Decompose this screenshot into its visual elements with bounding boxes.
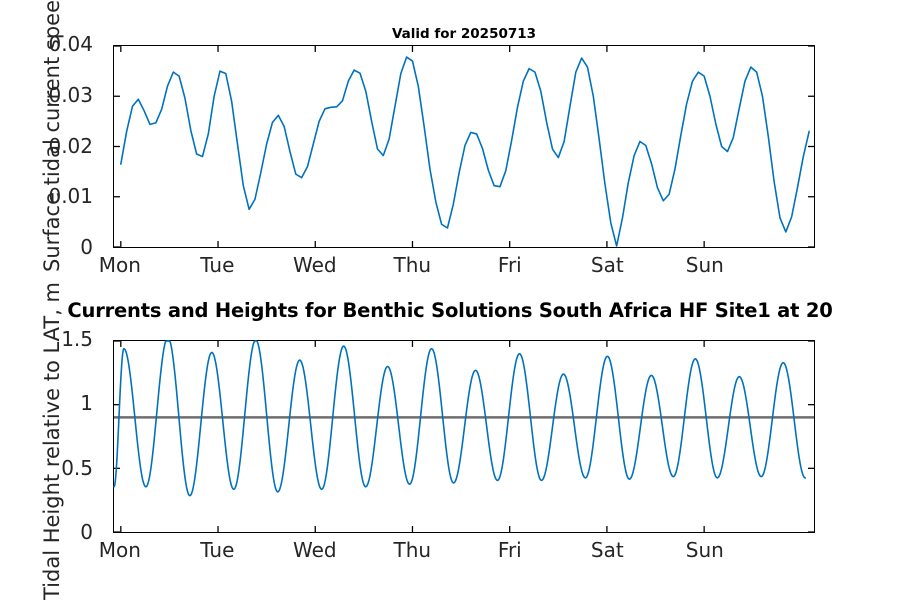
x-tick-label: Wed [293,540,337,560]
x-tick-label: Sat [591,540,624,560]
data-series-line [121,57,809,246]
x-tick-label: Sat [591,255,624,275]
x-tick-label: Sun [686,540,724,560]
x-tick-label: Mon [99,255,141,275]
figure-canvas: Valid for 20250713 00.010.020.030.04 Mon… [0,0,900,600]
top-chart-title: Valid for 20250713 [113,26,815,42]
top-chart-axes[interactable] [113,45,815,248]
x-tick-label: Wed [293,255,337,275]
top-chart-plot [114,46,814,247]
x-tick-label: Sun [686,255,724,275]
y-tick-label: 1.5 [61,329,104,349]
x-tick-label: Fri [498,540,522,560]
bottom-chart-plot [114,341,814,532]
x-tick-label: Tue [200,255,234,275]
x-tick-label: Tue [200,540,234,560]
x-tick-label: Thu [394,540,432,560]
bottom-chart-axes[interactable] [113,340,815,533]
y-tick-label: 0.5 [61,458,104,478]
x-tick-label: Thu [394,255,432,275]
figure-suptitle: Currents and Heights for Benthic Solutio… [0,299,900,322]
top-y-axis-label: Surface tidal current speed, kn [42,0,63,272]
y-tick-label: 1 [80,393,104,413]
x-tick-label: Fri [498,255,522,275]
bottom-y-axis-label: Tidal Height relative to LAT, m [42,282,63,600]
x-tick-label: Mon [99,540,141,560]
